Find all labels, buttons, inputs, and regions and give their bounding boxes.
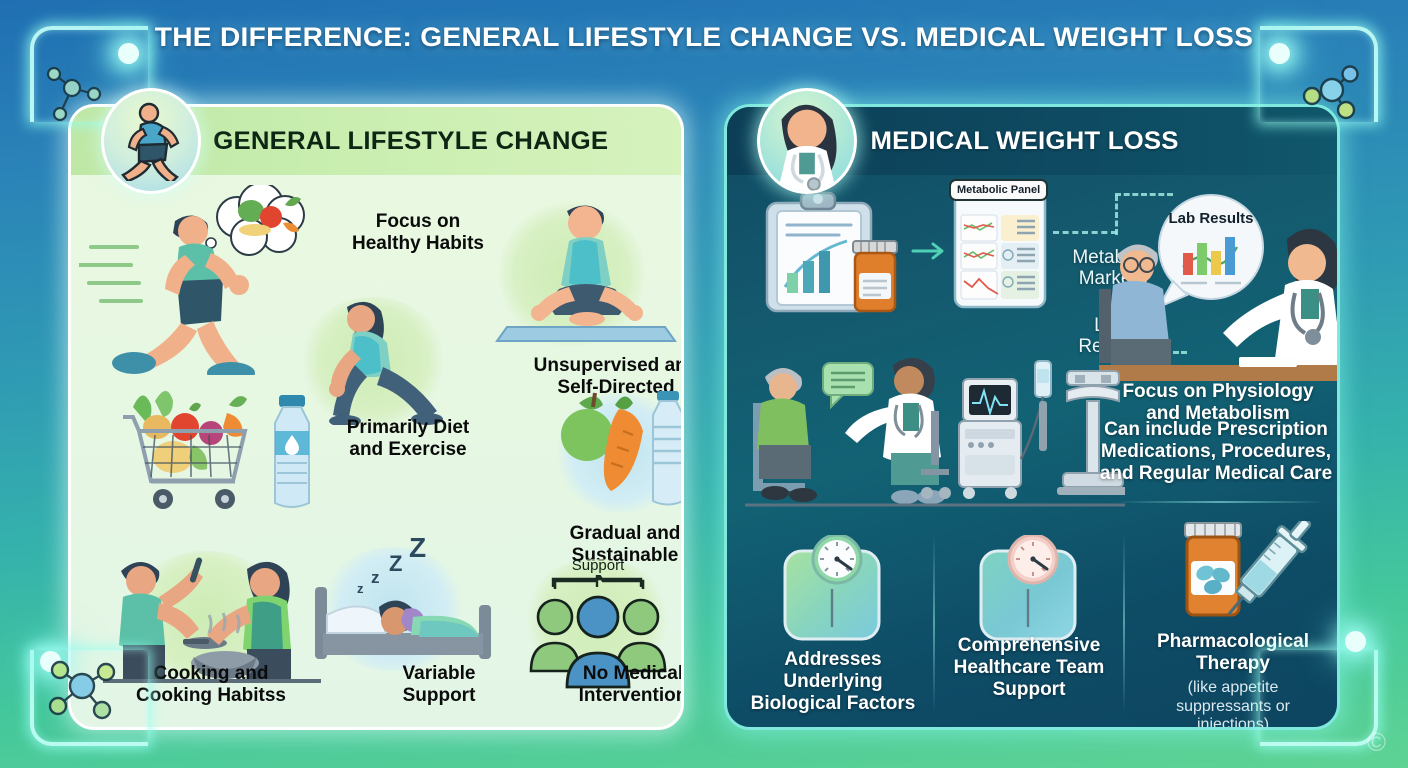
right-panel-title: MEDICAL WEIGHT LOSS: [871, 127, 1179, 156]
clinic-equipment-icon: [745, 347, 1125, 519]
metabolic-panel-card-title: Metabolic Panel: [949, 179, 1048, 201]
molecule-icon-top-left: [42, 54, 112, 134]
page-title: THE DIFFERENCE: GENERAL LIFESTYLE CHANGE…: [0, 22, 1408, 53]
runner-with-food-thought-icon: [79, 185, 319, 375]
molecule-icon-bottom-left: [38, 640, 130, 732]
svg-text:z: z: [371, 568, 380, 587]
svg-text:Z: Z: [389, 551, 402, 576]
badge-female-doctor: [757, 88, 857, 194]
right-item-label-prescription-medications: Can include Prescription Medications, Pr…: [1087, 419, 1340, 486]
left-item-label-variable-support: Variable Support: [339, 663, 539, 707]
support-badge-label: Support: [523, 557, 673, 575]
copyright-watermark: ©: [1367, 727, 1386, 758]
pill-bottle-and-syringe-icon: [1153, 521, 1313, 645]
sleeping-person-icon: Z Z z z: [301, 529, 501, 677]
left-panel-title: GENERAL LIFESTYLE CHANGE: [213, 127, 608, 156]
right-item-label-healthcare-team-support: Comprehensive Healthcare Team Support: [925, 635, 1133, 702]
grocery-cart-and-water-bottle-icon: [93, 379, 333, 529]
badge-running-person: [101, 88, 201, 194]
molecule-icon-top-right: [1294, 50, 1374, 130]
arrow-right-icon: [911, 239, 951, 263]
svg-text:Lab Results: Lab Results: [1168, 210, 1253, 227]
doctor-patient-consult-icon: Lab Results: [1099, 189, 1340, 381]
running-person-icon: [115, 101, 187, 181]
female-doctor-icon: [760, 89, 854, 193]
right-item-label-addresses-biological-factors: Addresses Underlying Biological Factors: [735, 649, 931, 716]
panel-general-lifestyle-change: GENERAL LIFESTYLE CHANGE: [68, 104, 684, 730]
apple-carrot-water-icon: [549, 387, 684, 517]
frame-glow-dot-bottom-right: [1345, 631, 1366, 652]
yoga-meditation-icon: [489, 193, 679, 353]
svg-text:Z: Z: [409, 532, 426, 563]
svg-text:z: z: [357, 581, 364, 596]
clipboard-chart-and-pill-bottle-icon: [757, 189, 917, 319]
weighing-scale-pink-icon: [969, 535, 1089, 645]
panel-medical-weight-loss: MEDICAL WEIGHT LOSS: [724, 104, 1340, 730]
left-item-label-no-medical-intervention: No Medical Intervention: [533, 663, 684, 707]
divider-right-mid: [1115, 501, 1325, 503]
right-item-label-pharmacological-therapy: Pharmacological Therapy: [1127, 631, 1339, 675]
weighing-scale-green-icon: [773, 535, 893, 645]
right-item-note-pharmacological-therapy: (like appetite suppressants or injection…: [1127, 679, 1339, 730]
